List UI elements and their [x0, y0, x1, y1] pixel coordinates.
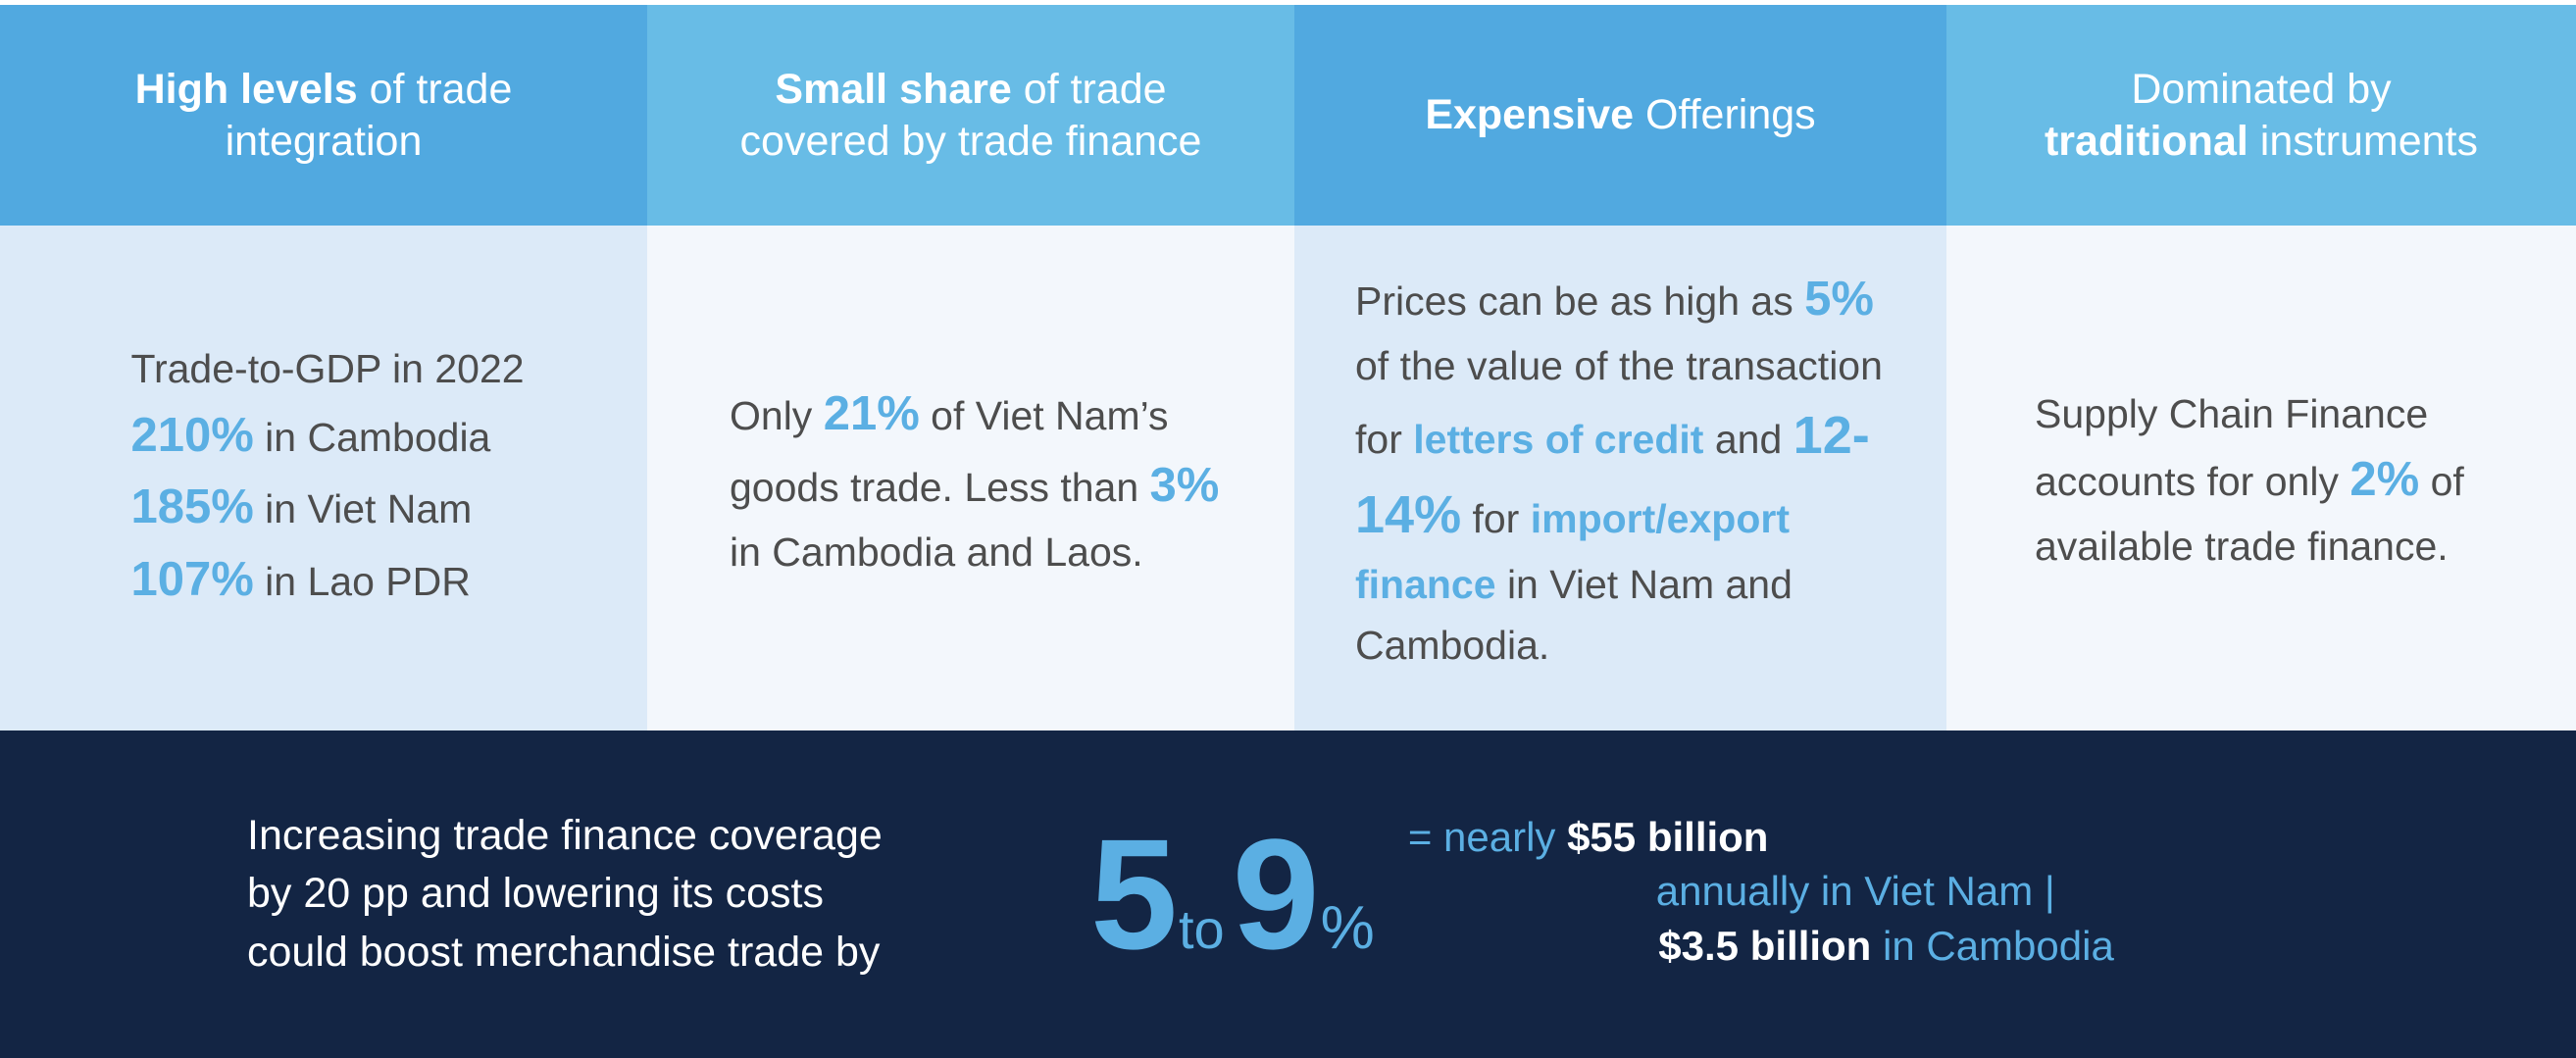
nearly-word: nearly: [1443, 814, 1567, 860]
footer-lead-text: Increasing trade finance coverage by 20 …: [247, 807, 1110, 982]
card-body-text: Trade-to-GDP in 2022 210% in Cambodia 18…: [130, 339, 524, 616]
card-header-line-2: integration: [135, 116, 513, 167]
term-letters-of-credit: letters of credit: [1413, 417, 1703, 462]
stat-label-viet-nam: in Viet Nam: [254, 486, 473, 531]
stat-range-to: 9: [1233, 822, 1317, 966]
footer-equivalence-text: = nearly $55 billion annually in Viet Na…: [1408, 810, 2114, 973]
stat-value-supply-chain-finance: 2%: [2349, 453, 2419, 506]
stat-range-from: 5: [1090, 822, 1175, 966]
card-header-line-1: Small share of trade: [740, 64, 1202, 115]
card-header-expensive-offerings: Expensive Offerings: [1294, 5, 1946, 226]
card-body-text: Only 21% of Viet Nam’s goods trade. Less…: [730, 378, 1239, 583]
stat-range-percent-sign: %: [1321, 900, 1375, 956]
card-body-text: Supply Chain Finance accounts for only 2…: [2035, 384, 2537, 578]
footer-line-2: annually in Viet Nam |: [1408, 864, 2114, 918]
card-header-line-1: Dominated by: [2045, 64, 2478, 115]
stat-value-cambodia: 210%: [130, 409, 253, 462]
trade-to-gdp-label: Trade-to-GDP in 2022: [130, 346, 524, 391]
amount-viet-nam: $55 billion: [1567, 814, 1768, 860]
cambodia-tail: in Cambodia: [1871, 923, 2113, 969]
stat-label-lao-pdr: in Lao PDR: [254, 559, 471, 604]
card-header-rest: of trade: [358, 66, 513, 113]
footer-headline-stat: 5to9%: [1090, 822, 1375, 966]
text-suffix: in Cambodia and Laos.: [730, 529, 1143, 575]
stat-value-price-share: 5%: [1804, 273, 1874, 326]
card-body-trade-integration: Trade-to-GDP in 2022 210% in Cambodia 18…: [0, 226, 647, 735]
card-header-trade-integration: High levels of trade integration: [0, 5, 647, 226]
card-header-traditional-instruments: Dominated by traditional instruments: [1946, 5, 2576, 226]
fact-card-grid: High levels of trade integration Small s…: [0, 0, 2576, 731]
stat-label-cambodia: in Cambodia: [254, 415, 491, 460]
card-header-emphasis: Expensive: [1425, 91, 1634, 138]
text-middle-2: and: [1703, 417, 1793, 462]
card-header-line-1: High levels of trade: [135, 64, 513, 115]
card-header-line-2: covered by trade finance: [740, 116, 1202, 167]
stat-value-cambodia-laos-coverage: 3%: [1150, 459, 1220, 512]
card-body-traditional-instruments: Supply Chain Finance accounts for only 2…: [1946, 226, 2576, 735]
card-body-trade-finance-share: Only 21% of Viet Nam’s goods trade. Less…: [647, 226, 1294, 735]
card-header-rest: Offerings: [1634, 91, 1816, 138]
card-body-text: Prices can be as high as 5% of the value…: [1355, 264, 1907, 676]
card-header-rest: of trade: [1012, 66, 1167, 113]
stat-range-connector: to: [1179, 904, 1225, 955]
card-header-trade-finance-share: Small share of trade covered by trade fi…: [647, 5, 1294, 226]
text-prefix: Only: [730, 393, 824, 438]
card-body-expensive-offerings: Prices can be as high as 5% of the value…: [1294, 226, 1946, 735]
text-middle-3: for: [1461, 496, 1531, 541]
card-header-emphasis: Small share: [775, 66, 1011, 113]
footer-banner: Increasing trade finance coverage by 20 …: [0, 731, 2576, 1058]
stat-value-lao-pdr: 107%: [130, 553, 253, 606]
card-header-line-2: traditional instruments: [2045, 116, 2478, 167]
text-prefix: Prices can be as high as: [1355, 278, 1804, 324]
amount-cambodia: $3.5 billion: [1658, 923, 1871, 969]
stat-value-viet-nam-coverage: 21%: [824, 387, 920, 440]
footer-line-1: = nearly $55 billion: [1408, 810, 2114, 864]
stat-range: 5to9%: [1090, 822, 1375, 966]
card-header-rest: instruments: [2248, 118, 2478, 165]
equals-sign: =: [1408, 814, 1443, 860]
footer-line-3: $3.5 billion in Cambodia: [1408, 919, 2114, 973]
infographic-root: High levels of trade integration Small s…: [0, 0, 2576, 1058]
card-header-line-1: Expensive Offerings: [1425, 89, 1815, 140]
stat-value-viet-nam: 185%: [130, 480, 253, 533]
card-header-emphasis: traditional: [2045, 118, 2248, 165]
card-header-emphasis: High levels: [135, 66, 358, 113]
